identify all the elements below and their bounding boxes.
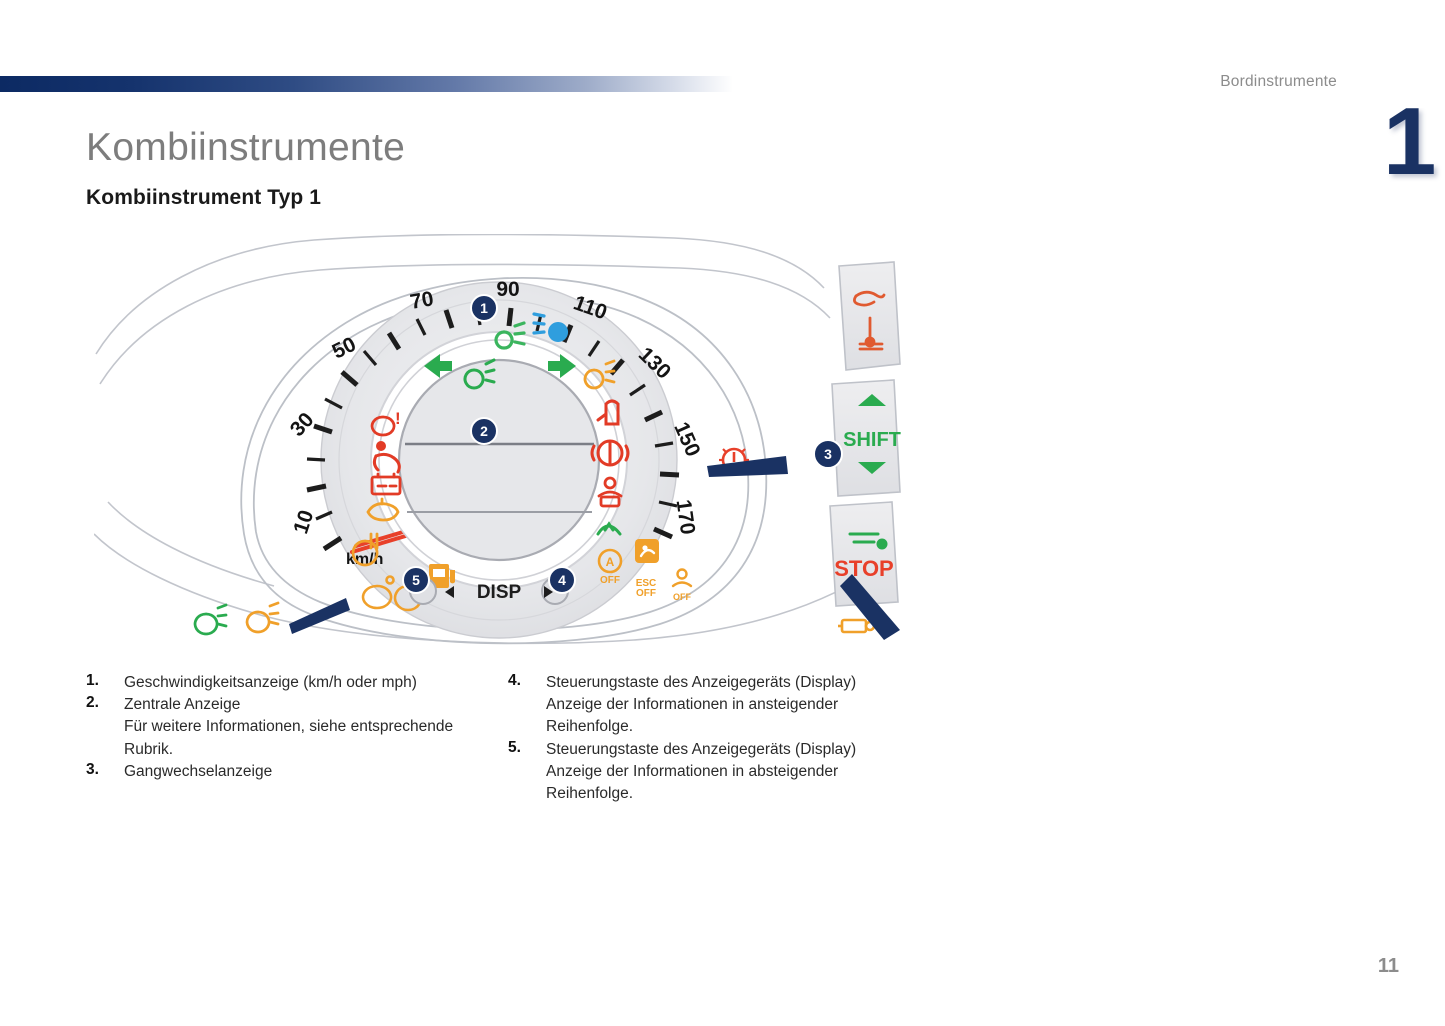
svg-text:4: 4 <box>558 572 566 588</box>
svg-text:70: 70 <box>408 287 435 314</box>
esp-off-icon <box>635 539 659 563</box>
svg-text:170: 170 <box>672 498 700 536</box>
disp-label: DISP <box>477 582 522 603</box>
caption-item-1: 1. Geschwindigkeitsanzeige (km/h oder mp… <box>86 672 476 694</box>
airbag-off-icon: OFF <box>673 570 691 603</box>
caption-text-1-line-1: Geschwindigkeitsanzeige (km/h oder mph) <box>124 672 476 694</box>
header-rule <box>0 76 733 92</box>
right-panel-group: SHIFT STOP <box>830 262 901 606</box>
caption-text-5-line-2: Anzeige der Informationen in absteigende… <box>546 761 898 783</box>
instrument-cluster-illustration: 10 30 50 70 90 110 130 150 170 km/h <box>94 234 904 646</box>
svg-text:2: 2 <box>480 423 488 439</box>
chapter-tab: 1 <box>1383 108 1445 190</box>
callout-2: 2 <box>471 418 497 444</box>
svg-text:5: 5 <box>412 572 420 588</box>
svg-text:90: 90 <box>496 278 519 301</box>
pointer-to-bottom-left <box>289 598 350 634</box>
caption-text-2-line-2: Für weitere Informationen, siehe entspre… <box>124 716 476 738</box>
caption-item-4: 4. Steuerungstaste des Anzeigegeräts (Di… <box>508 672 898 739</box>
caption-list: 1. Geschwindigkeitsanzeige (km/h oder mp… <box>86 672 906 822</box>
caption-column-left: 1. Geschwindigkeitsanzeige (km/h oder mp… <box>86 672 476 783</box>
section-title: Kombiinstrument Typ 1 <box>86 186 321 210</box>
caption-text-4-line-2: Anzeige der Informationen in ansteigende… <box>546 694 898 716</box>
central-display <box>379 340 619 580</box>
svg-text:OFF: OFF <box>673 592 691 602</box>
caption-item-2: 2. Zentrale Anzeige Für weitere Informat… <box>86 694 476 761</box>
rear-fog-green-icon <box>195 605 226 634</box>
caption-text-2-line-3: Rubrik. <box>124 739 476 761</box>
svg-text:30: 30 <box>286 408 319 441</box>
page-title: Kombiinstrumente <box>86 126 405 170</box>
trailer-icon <box>838 620 874 632</box>
caption-number-1: 1. <box>86 672 99 690</box>
caption-column-right: 4. Steuerungstaste des Anzeigegeräts (Di… <box>508 672 898 805</box>
callout-5: 5 <box>403 567 429 593</box>
caption-text-5-line-3: Reihenfolge. <box>546 783 898 805</box>
svg-text:OFF: OFF <box>600 575 620 586</box>
chapter-number: 1 <box>1383 108 1436 190</box>
svg-text:!: ! <box>395 409 401 428</box>
caption-number-4: 4. <box>508 672 521 690</box>
caption-text-3-line-1: Gangwechselanzeige <box>124 761 476 783</box>
svg-text:10: 10 <box>289 507 318 536</box>
caption-text-5-line-1: Steuerungstaste des Anzeigegeräts (Displ… <box>546 739 898 761</box>
svg-text:A: A <box>606 555 615 569</box>
running-head: Bordinstrumente <box>1220 73 1337 91</box>
caption-text-2-line-1: Zentrale Anzeige <box>124 694 476 716</box>
caption-item-5: 5. Steuerungstaste des Anzeigegeräts (Di… <box>508 739 898 806</box>
callout-3: 3 <box>814 440 842 468</box>
svg-text:3: 3 <box>824 446 832 462</box>
svg-text:1: 1 <box>480 300 488 316</box>
esc-off-label: OFF <box>636 588 656 599</box>
callout-1: 1 <box>471 295 497 321</box>
shift-label: SHIFT <box>843 429 901 451</box>
callout-4: 4 <box>549 567 575 593</box>
page-number: 11 <box>1378 955 1399 978</box>
caption-number-2: 2. <box>86 694 99 712</box>
rear-fog-orange-icon <box>247 603 278 632</box>
stop-label: STOP <box>834 556 894 581</box>
caption-text-4-line-3: Reihenfolge. <box>546 716 898 738</box>
caption-number-5: 5. <box>508 739 521 757</box>
caption-text-4-line-1: Steuerungstaste des Anzeigegeräts (Displ… <box>546 672 898 694</box>
caption-item-3: 3. Gangwechselanzeige <box>86 761 476 783</box>
caption-number-3: 3. <box>86 761 99 779</box>
oil-temp-panel <box>839 262 900 370</box>
